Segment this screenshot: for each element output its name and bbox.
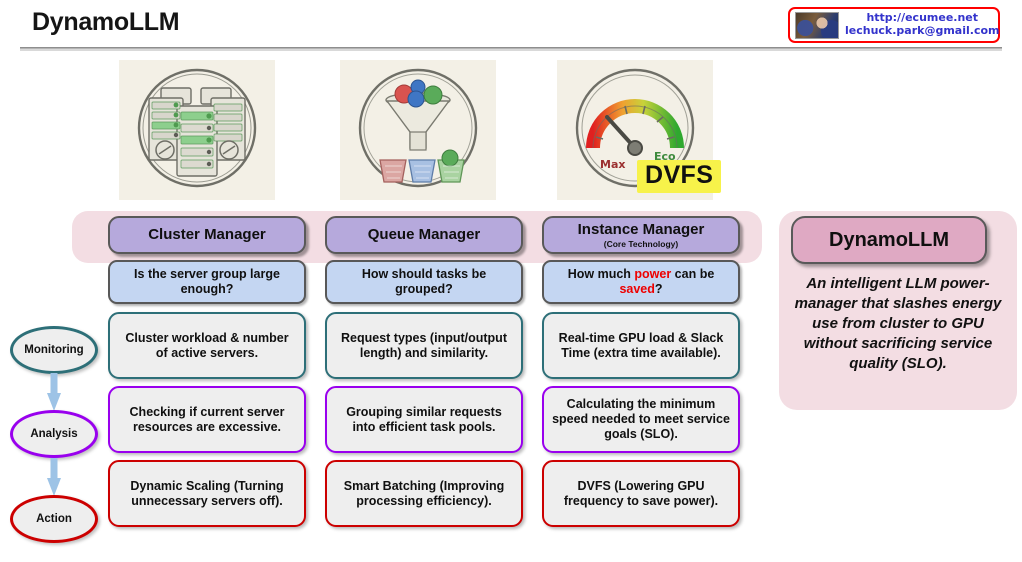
cell-text: Request types (input/output length) and …: [335, 331, 513, 361]
cell-text: Real-time GPU load & Slack Time (extra t…: [552, 331, 730, 361]
cell-text: Grouping similar requests into efficient…: [335, 405, 513, 435]
stage-rail: Monitoring Analysis Action: [4, 318, 104, 556]
action-cell-cluster: Dynamic Scaling (Turning unnecessary ser…: [108, 460, 306, 527]
matrix-header-row: Cluster Manager Queue Manager Instance M…: [108, 216, 740, 254]
profile-thumbnail-icon: [795, 12, 839, 39]
matrix-action-row: Dynamic Scaling (Turning unnecessary ser…: [108, 460, 740, 527]
cell-text: Calculating the minimum speed needed to …: [552, 397, 730, 441]
question-box-cluster: Is the server group large enough?: [108, 260, 306, 304]
column-header-label: Cluster Manager: [148, 226, 266, 244]
matrix-question-row: Is the server group large enough? How sh…: [108, 260, 740, 304]
summary-title-pill: DynamoLLM: [791, 216, 987, 264]
column-header-label: Instance Manager: [578, 221, 705, 239]
monitoring-cell-cluster: Cluster workload & number of active serv…: [108, 312, 306, 379]
question-box-queue: How should tasks be grouped?: [325, 260, 523, 304]
monitoring-cell-instance: Real-time GPU load & Slack Time (extra t…: [542, 312, 740, 379]
funnel-sorting-illustration: [340, 60, 496, 200]
analysis-cell-cluster: Checking if current server resources are…: [108, 386, 306, 453]
column-header-instance-manager[interactable]: Instance Manager (Core Technology): [542, 216, 740, 254]
cell-text: Smart Batching (Improving processing eff…: [335, 479, 513, 509]
stage-monitoring[interactable]: Monitoring: [10, 326, 98, 374]
header-divider: [20, 47, 1002, 51]
contact-email[interactable]: lechuck.park@gmail.com: [845, 25, 999, 38]
manager-matrix: Cluster Manager Queue Manager Instance M…: [108, 216, 740, 534]
cell-text: Cluster workload & number of active serv…: [118, 331, 296, 361]
stage-monitoring-label: Monitoring: [24, 344, 83, 356]
arrow-down-icon: [47, 458, 61, 496]
monitoring-cell-queue: Request types (input/output length) and …: [325, 312, 523, 379]
stage-action-label: Action: [36, 513, 72, 525]
contact-box: http://ecumee.net lechuck.park@gmail.com: [788, 7, 1000, 43]
column-header-label: Queue Manager: [368, 226, 481, 244]
question-text: Is the server group large enough?: [117, 267, 297, 297]
contact-lines: http://ecumee.net lechuck.park@gmail.com: [845, 12, 999, 37]
action-cell-instance: DVFS (Lowering GPU frequency to save pow…: [542, 460, 740, 527]
arrow-down-icon: [47, 373, 61, 411]
matrix-monitoring-row: Cluster workload & number of active serv…: [108, 312, 740, 379]
stage-analysis-label: Analysis: [30, 428, 77, 440]
matrix-analysis-row: Checking if current server resources are…: [108, 386, 740, 453]
cell-text: Dynamic Scaling (Turning unnecessary ser…: [118, 479, 296, 509]
analysis-cell-queue: Grouping similar requests into efficient…: [325, 386, 523, 453]
question-text: How should tasks be grouped?: [334, 267, 514, 297]
server-rack-illustration: [119, 60, 275, 200]
page-title: DynamoLLM: [32, 8, 179, 37]
column-header-queue-manager[interactable]: Queue Manager: [325, 216, 523, 254]
question-text: How much power can be saved?: [551, 267, 731, 297]
summary-description: An intelligent LLM power-manager that sl…: [787, 274, 1009, 374]
stage-action[interactable]: Action: [10, 495, 98, 543]
column-header-cluster-manager[interactable]: Cluster Manager: [108, 216, 306, 254]
cell-text: Checking if current server resources are…: [118, 405, 296, 435]
action-cell-queue: Smart Batching (Improving processing eff…: [325, 460, 523, 527]
question-box-instance: How much power can be saved?: [542, 260, 740, 304]
stage-analysis[interactable]: Analysis: [10, 410, 98, 458]
analysis-cell-instance: Calculating the minimum speed needed to …: [542, 386, 740, 453]
column-header-sublabel: (Core Technology): [604, 239, 678, 249]
question-highlight-saved: saved: [619, 282, 654, 296]
summary-title-label: DynamoLLM: [829, 229, 949, 252]
svg-text:Max: Max: [600, 158, 625, 171]
question-highlight-power: power: [634, 267, 671, 281]
dvfs-badge: DVFS: [637, 160, 721, 193]
cell-text: DVFS (Lowering GPU frequency to save pow…: [552, 479, 730, 509]
